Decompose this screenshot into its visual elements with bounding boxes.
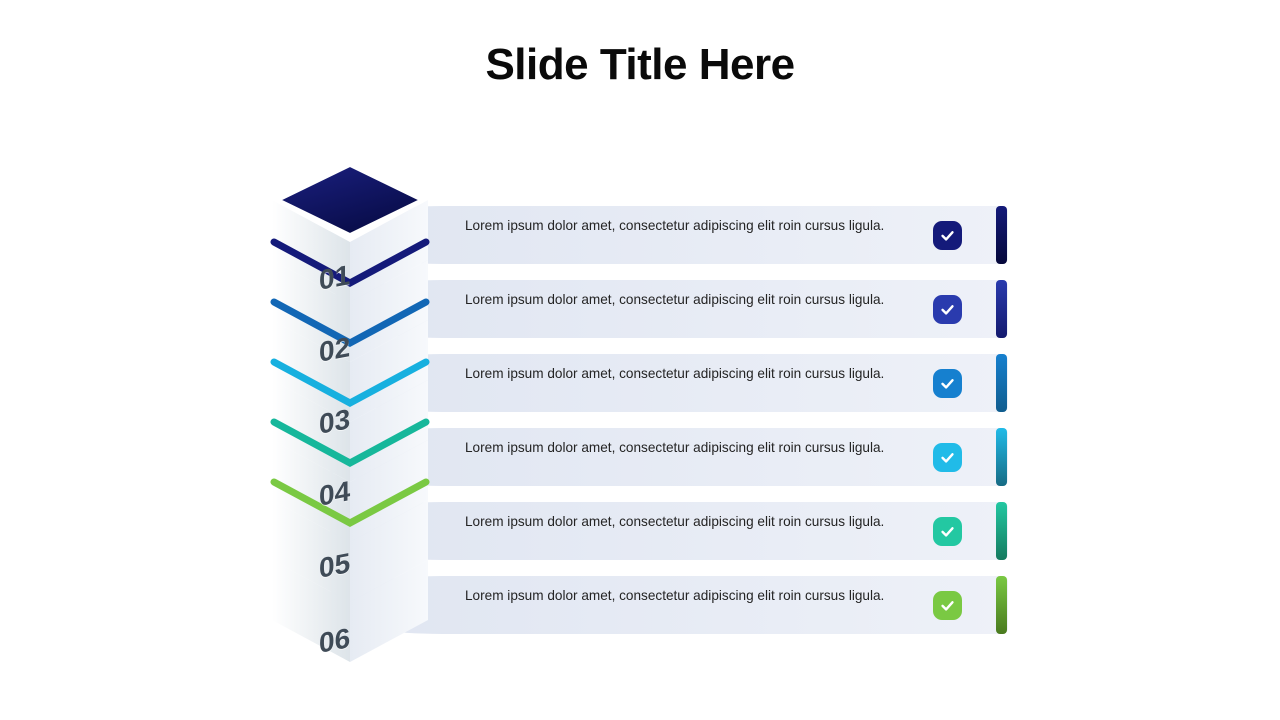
check-icon <box>939 523 956 540</box>
accent-bar <box>996 428 1007 486</box>
check-icon <box>939 301 956 318</box>
status-badge[interactable] <box>933 221 962 250</box>
accent-bar <box>996 354 1007 412</box>
slide-canvas: Slide Title Here Lorem ipsum dolor amet,… <box>0 0 1280 720</box>
step-number-05: 05 <box>319 547 350 585</box>
status-badge[interactable] <box>933 369 962 398</box>
status-badge[interactable] <box>933 295 962 324</box>
check-icon <box>939 375 956 392</box>
check-icon <box>939 227 956 244</box>
accent-bar <box>996 576 1007 634</box>
status-badge[interactable] <box>933 591 962 620</box>
list-item-text: Lorem ipsum dolor amet, consectetur adip… <box>465 364 915 383</box>
check-icon <box>939 597 956 614</box>
step-number-01: 01 <box>319 259 350 297</box>
accent-bar <box>996 206 1007 264</box>
content-rows: Lorem ipsum dolor amet, consectetur adip… <box>0 0 1280 720</box>
step-number-03: 03 <box>319 403 350 441</box>
list-item-text: Lorem ipsum dolor amet, consectetur adip… <box>465 290 915 309</box>
step-number-02: 02 <box>319 331 350 369</box>
check-icon <box>939 449 956 466</box>
status-badge[interactable] <box>933 443 962 472</box>
list-item-text: Lorem ipsum dolor amet, consectetur adip… <box>465 216 915 235</box>
step-number-06: 06 <box>319 622 350 660</box>
accent-bar <box>996 502 1007 560</box>
step-number-04: 04 <box>319 475 350 513</box>
status-badge[interactable] <box>933 517 962 546</box>
list-item-text: Lorem ipsum dolor amet, consectetur adip… <box>465 438 915 457</box>
column-graphic <box>262 150 467 690</box>
accent-bar <box>996 280 1007 338</box>
list-item-text: Lorem ipsum dolor amet, consectetur adip… <box>465 586 915 605</box>
isometric-column: 01 02 03 04 05 06 <box>262 150 467 690</box>
list-item-text: Lorem ipsum dolor amet, consectetur adip… <box>465 512 915 531</box>
